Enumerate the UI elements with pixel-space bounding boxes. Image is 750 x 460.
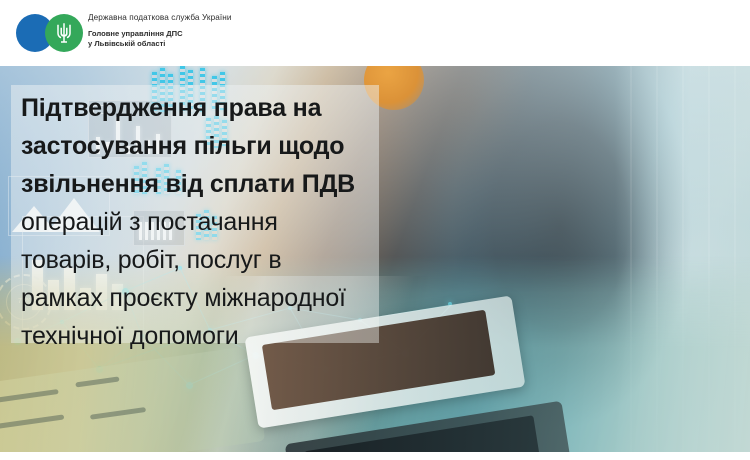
- ukraine-trident-icon: [55, 21, 73, 45]
- hero-title: Підтвердження права на застосування піль…: [21, 89, 371, 355]
- keyboard-key-row: [90, 407, 146, 420]
- department-name-line-1: Головне управління ДПС: [88, 29, 388, 39]
- agency-logo[interactable]: [16, 14, 86, 52]
- hero-title-line-1: Підтвердження права на: [21, 89, 371, 127]
- hero-title-line-3: звільнення від сплати ПДВ: [21, 165, 371, 203]
- hero-title-line-7: технічної допомоги: [21, 317, 371, 355]
- agency-header-text: Державна податкова служба України Головн…: [88, 12, 388, 49]
- department-name-line-2: у Львівській області: [88, 39, 388, 49]
- bottom-white-bar: [0, 452, 750, 460]
- hero-title-line-2: застосування пільги щодо: [21, 127, 371, 165]
- keyboard-key-row: [75, 376, 119, 387]
- agency-name: Державна податкова служба України: [88, 12, 388, 23]
- hero-title-line-4: операцій з постачання: [21, 203, 371, 241]
- keyboard-key-row: [0, 414, 64, 430]
- hero-title-line-5: товарів, робіт, послуг в: [21, 241, 371, 279]
- page-header: Державна податкова служба України Головн…: [0, 0, 750, 66]
- hero-title-line-6: рамках проєкту міжнародної: [21, 279, 371, 317]
- keyboard-key-row: [0, 389, 59, 403]
- banner-image: 75%: [0, 0, 750, 460]
